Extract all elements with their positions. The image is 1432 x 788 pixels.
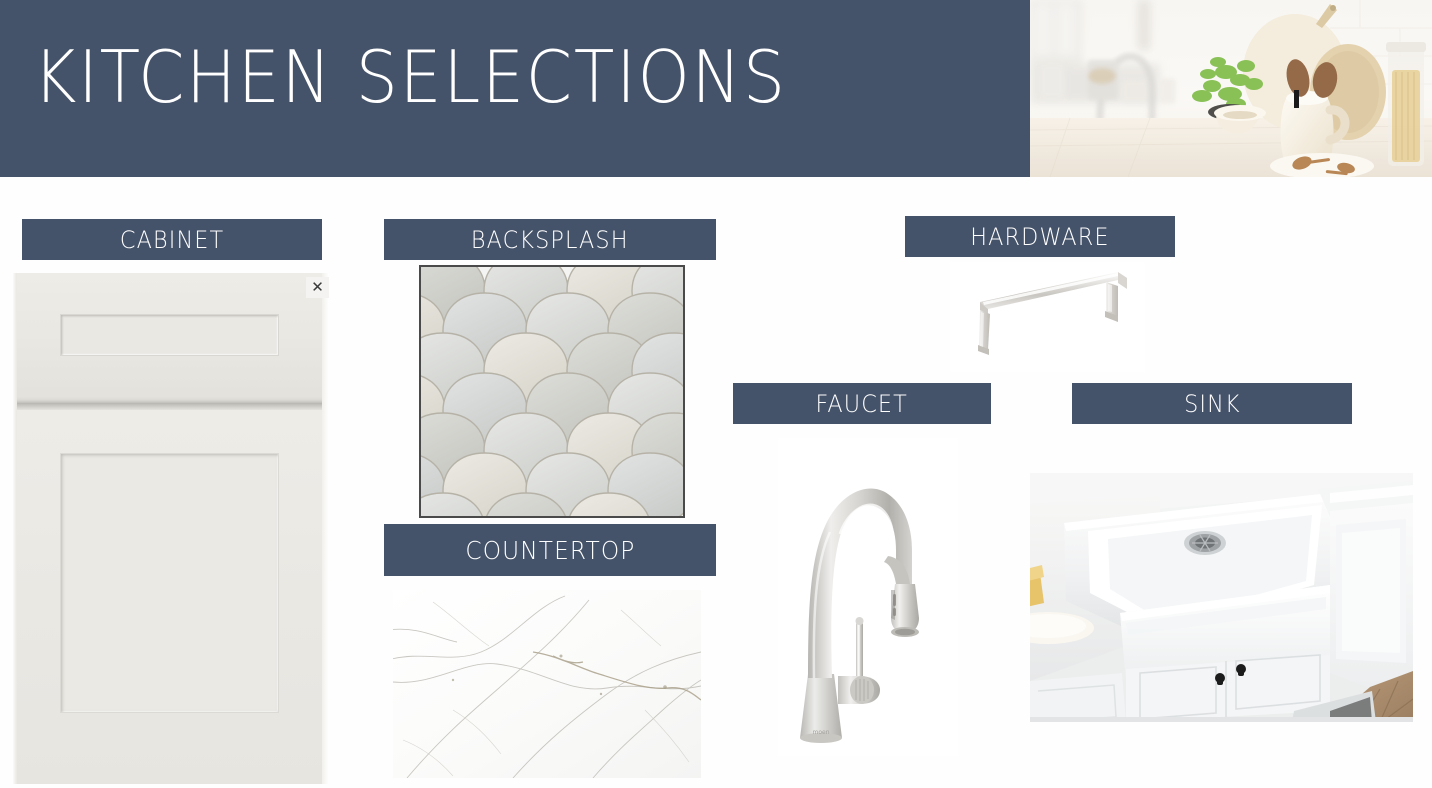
label-faucet: FAUCET [733, 383, 991, 424]
cabinet-drawer-front [13, 273, 328, 403]
backsplash-image[interactable] [419, 265, 685, 518]
label-countertop-text: COUNTERTOP [465, 536, 635, 565]
cabinet-image[interactable] [13, 273, 328, 784]
cabinet-reveal-gap [13, 403, 328, 410]
label-cabinet: CABINET [22, 219, 322, 260]
label-faucet-text: FAUCET [816, 390, 908, 418]
fish-scale-tile-pattern [421, 267, 683, 516]
page-title: KITCHEN SELECTIONS [33, 34, 787, 120]
cabinet-left-edge [13, 273, 17, 784]
label-backsplash: BACKSPLASH [384, 219, 716, 260]
marble-slab-texture [393, 590, 701, 778]
label-countertop: COUNTERTOP [384, 524, 716, 576]
faucet-image[interactable]: moen [778, 438, 958, 756]
sink-image[interactable] [1030, 473, 1413, 722]
label-sink-text: SINK [1184, 390, 1241, 418]
svg-text:moen: moen [812, 729, 829, 736]
cabinet-bar-pull [950, 262, 1145, 372]
label-hardware: HARDWARE [905, 216, 1175, 257]
header-kitchen-photo [1030, 0, 1432, 177]
cabinet-door-front [13, 410, 328, 784]
cabinet-right-edge [322, 273, 328, 784]
label-sink: SINK [1072, 383, 1352, 424]
farmhouse-apron-sink [1030, 473, 1413, 722]
countertop-image[interactable] [393, 590, 701, 778]
close-icon[interactable]: ✕ [306, 277, 329, 298]
cabinet-drawer-panel [60, 314, 279, 356]
label-cabinet-text: CABINET [120, 226, 224, 254]
label-hardware-text: HARDWARE [970, 223, 1109, 251]
selections-board: KITCHEN SELECTIONS [0, 0, 1432, 788]
hardware-image[interactable] [950, 262, 1145, 372]
pull-down-faucet: moen [778, 438, 958, 756]
cabinet-door-panel [60, 453, 279, 713]
label-backsplash-text: BACKSPLASH [471, 226, 629, 254]
